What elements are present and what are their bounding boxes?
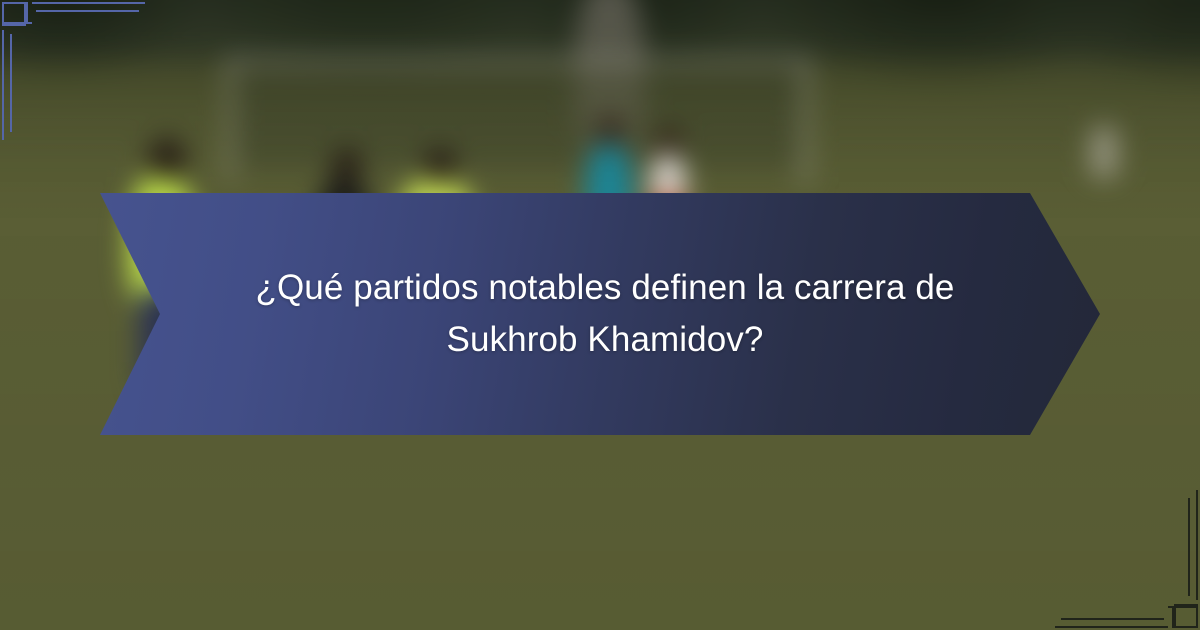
share-card: ¿Qué partidos notables definen la carrer… bbox=[0, 0, 1200, 630]
headline-text: ¿Qué partidos notables definen la carrer… bbox=[240, 262, 970, 366]
headline-banner: ¿Qué partidos notables definen la carrer… bbox=[100, 193, 1100, 435]
